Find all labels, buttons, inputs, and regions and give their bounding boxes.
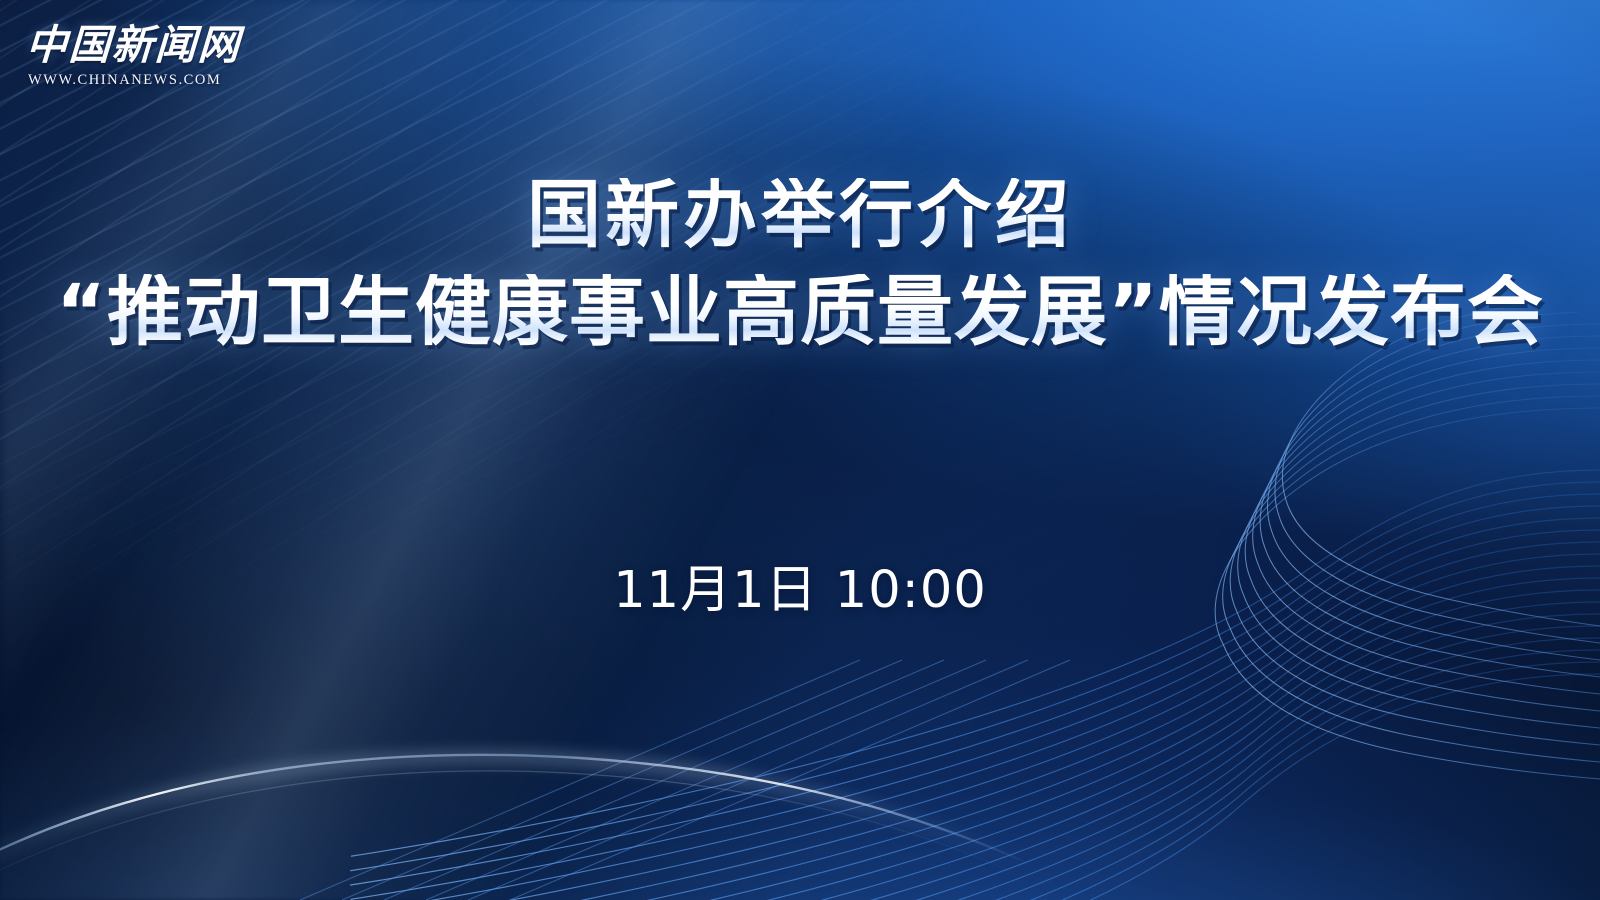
background-center-shadow	[0, 0, 1600, 900]
event-datetime: 11月1日 10:00	[0, 548, 1600, 622]
page-title: 国新办举行介绍 “推动卫生健康事业高质量发展”情况发布会	[0, 178, 1600, 350]
logo-website-url: WWW.CHINANEWS.COM	[28, 72, 256, 89]
curved-line-ribbon	[0, 0, 1600, 900]
logo-wordmark-cn: 中国新闻网	[25, 24, 257, 67]
background-bottom-glow	[0, 0, 1600, 900]
light-band-diagonal-soft	[0, 0, 1600, 900]
background-top-right-glow	[0, 0, 1600, 900]
diagonal-streaks-upper-left	[0, 0, 1600, 900]
background-mid-right-glow	[0, 0, 1600, 900]
light-band-diagonal	[0, 0, 1600, 900]
diagonal-streaks-upper-left-fine	[0, 0, 1600, 900]
background-base-gradient	[0, 0, 1600, 900]
background-left-shadow	[0, 0, 1600, 900]
title-line-secondary: “推动卫生健康事业高质量发展”情况发布会	[0, 274, 1600, 350]
title-line-primary: 国新办举行介绍	[0, 178, 1600, 252]
glowing-arc-swoosh	[0, 690, 1030, 900]
chinanews-logo[interactable]: 中国新闻网 WWW.CHINANEWS.COM	[26, 24, 256, 89]
background-vignette	[0, 0, 1600, 900]
broadcast-announcement-card: 中国新闻网 WWW.CHINANEWS.COM 国新办举行介绍 “推动卫生健康事…	[0, 0, 1600, 900]
